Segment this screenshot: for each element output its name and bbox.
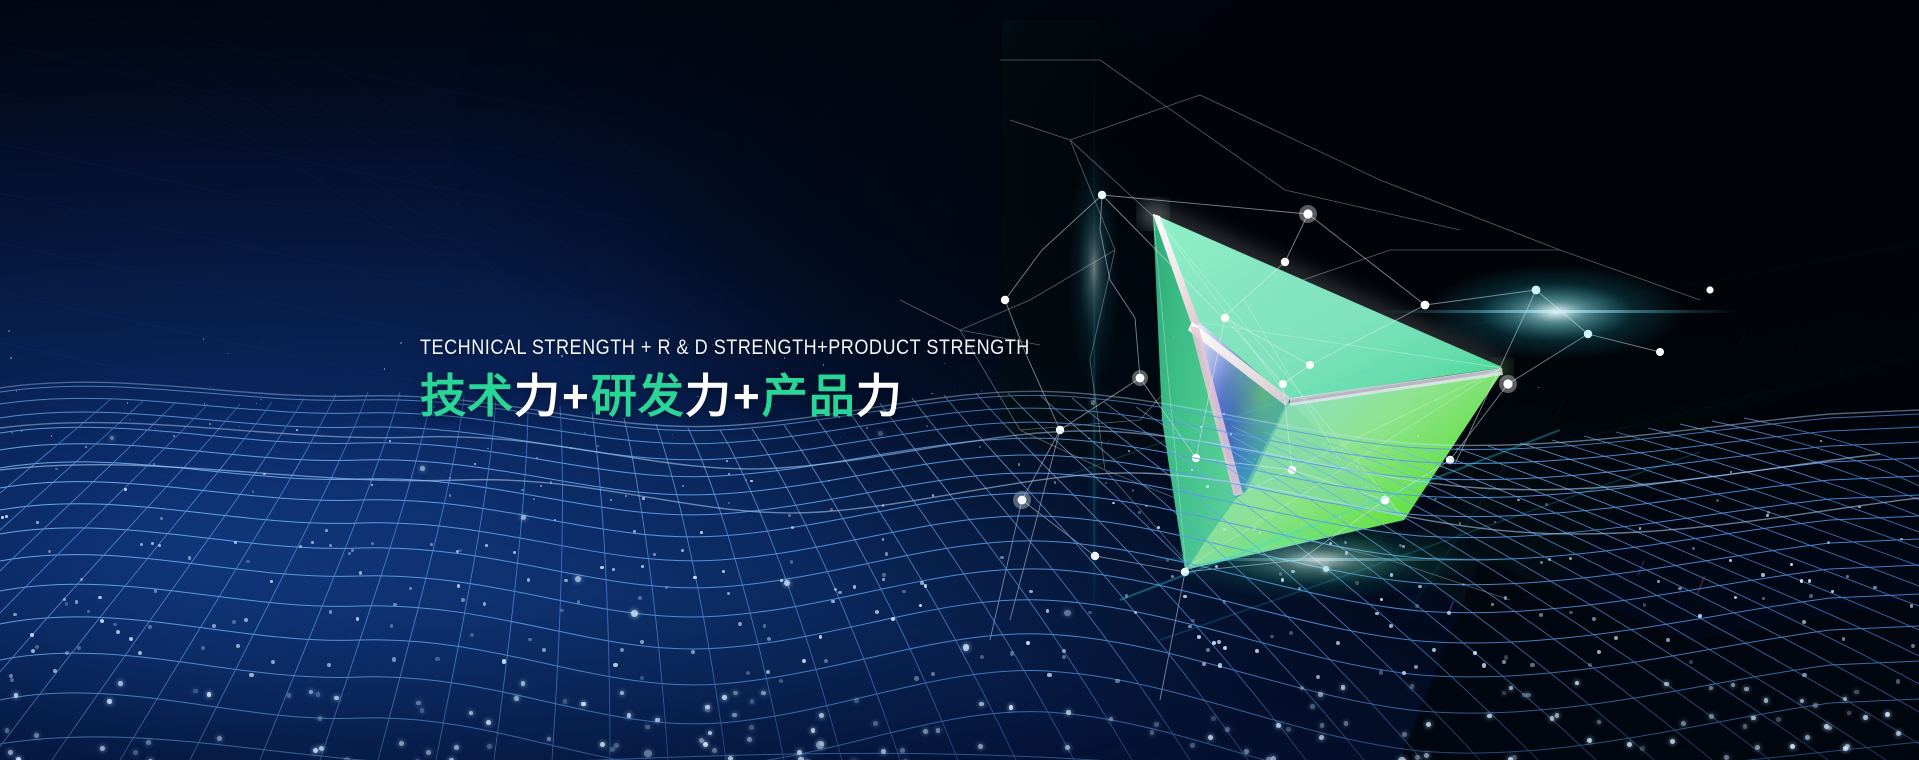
particle	[1842, 637, 1846, 641]
particle	[1319, 735, 1324, 740]
particle	[919, 604, 923, 608]
particle	[1289, 631, 1293, 635]
particle	[1846, 575, 1849, 578]
particle	[882, 578, 885, 581]
particle	[1911, 644, 1915, 648]
particle	[797, 750, 802, 755]
particle	[318, 716, 323, 721]
particle	[767, 637, 771, 641]
particle	[885, 552, 888, 555]
particle	[1627, 742, 1632, 747]
particle	[931, 672, 935, 676]
particle	[682, 485, 684, 487]
particle	[232, 620, 236, 624]
particle	[75, 600, 79, 604]
particle	[1415, 604, 1419, 608]
particle	[1538, 387, 1539, 388]
particle	[1790, 744, 1795, 749]
particle	[819, 713, 824, 718]
particle	[693, 576, 696, 579]
particle	[563, 699, 568, 704]
particle	[542, 648, 546, 652]
particle	[1502, 660, 1506, 664]
particle	[1827, 726, 1832, 731]
particle	[77, 646, 81, 650]
particle	[640, 676, 644, 680]
particle	[173, 435, 175, 437]
particle	[514, 696, 519, 701]
particle	[1666, 638, 1670, 642]
particle	[13, 613, 17, 617]
particle	[334, 696, 339, 701]
particle	[979, 446, 981, 448]
particle	[8, 750, 13, 755]
particle	[217, 736, 222, 741]
particle	[116, 630, 120, 634]
particle	[1212, 641, 1216, 645]
particle	[1206, 648, 1210, 652]
particle	[409, 587, 412, 590]
particle	[100, 746, 105, 751]
particle	[1767, 511, 1770, 514]
particle	[1743, 724, 1748, 729]
particle	[290, 442, 291, 443]
particle	[35, 645, 39, 649]
particle	[1545, 503, 1548, 506]
particle	[1345, 551, 1348, 554]
particle	[329, 544, 332, 547]
particle	[1399, 544, 1402, 547]
particle	[148, 625, 152, 629]
particle	[400, 342, 402, 344]
particle	[1225, 727, 1230, 732]
particle	[745, 479, 747, 481]
particle	[1724, 755, 1729, 760]
particle	[235, 437, 236, 438]
particle	[631, 610, 638, 617]
particle	[390, 624, 394, 628]
particle	[521, 515, 527, 521]
particle	[319, 746, 324, 751]
particle	[48, 550, 51, 553]
particle	[1046, 609, 1050, 613]
particle	[838, 591, 842, 595]
particle	[1487, 714, 1492, 719]
particle	[11, 432, 13, 434]
particle	[316, 692, 321, 697]
particle	[1845, 744, 1850, 749]
particle	[348, 552, 351, 555]
particle	[9, 674, 13, 678]
particle	[1762, 597, 1766, 601]
particle	[819, 635, 823, 639]
particle	[1336, 641, 1340, 645]
particle	[201, 646, 205, 650]
particle	[1344, 721, 1349, 726]
particle	[1858, 506, 1861, 509]
particle	[727, 592, 731, 596]
particle	[313, 748, 318, 753]
particle	[722, 570, 725, 573]
particle	[193, 689, 197, 693]
particle	[597, 445, 599, 447]
particle	[1197, 635, 1201, 639]
particle	[1502, 691, 1507, 696]
particle	[722, 695, 727, 700]
particle	[638, 596, 642, 600]
particle	[1764, 698, 1769, 703]
particle	[560, 609, 564, 613]
particle	[1298, 587, 1301, 590]
particle	[1504, 655, 1508, 659]
particle	[978, 744, 983, 749]
particle	[1223, 646, 1227, 650]
particle	[416, 701, 421, 706]
particle	[296, 429, 298, 431]
particle	[672, 434, 673, 435]
particle	[486, 720, 491, 725]
eyebrow-text: TECHNICAL STRENGTH + R & D STRENGTH+PROD…	[420, 336, 1030, 360]
particle	[420, 466, 425, 471]
particle	[1218, 663, 1222, 667]
particle	[1414, 665, 1418, 669]
particle	[244, 618, 248, 622]
particle	[1379, 670, 1383, 674]
particle	[824, 659, 828, 663]
particle	[528, 638, 532, 642]
particle	[21, 430, 23, 432]
particle	[1318, 692, 1323, 697]
particle	[252, 490, 255, 493]
particle	[129, 637, 133, 641]
particle	[1418, 585, 1421, 588]
particle	[613, 663, 617, 667]
particle	[1065, 745, 1070, 750]
particle	[584, 432, 586, 434]
particle	[207, 692, 212, 697]
particle	[1402, 545, 1405, 548]
particle	[138, 651, 142, 655]
particle	[262, 342, 263, 343]
particle	[65, 651, 69, 655]
particle	[209, 423, 211, 425]
particle	[1088, 438, 1090, 440]
particle	[612, 568, 615, 571]
particle	[1323, 566, 1329, 572]
particle	[1157, 526, 1160, 529]
particle	[655, 718, 660, 723]
particle	[1751, 716, 1756, 721]
particle	[124, 488, 126, 490]
headline-segment-7: 力	[856, 370, 903, 422]
particle	[1029, 590, 1033, 594]
particle	[831, 600, 835, 604]
particle	[371, 542, 374, 545]
particle	[154, 428, 155, 429]
particle	[55, 468, 57, 470]
particle	[1863, 715, 1868, 720]
particle	[204, 403, 206, 405]
particle	[1761, 573, 1764, 576]
particle	[1900, 538, 1903, 541]
particle	[1062, 655, 1066, 659]
particle	[1402, 671, 1406, 675]
particle	[188, 556, 191, 559]
particle	[457, 584, 460, 587]
particle	[1522, 693, 1527, 698]
particle	[1873, 586, 1876, 589]
particle	[454, 745, 459, 750]
particle	[1276, 723, 1281, 728]
particle	[1657, 580, 1660, 583]
particle	[900, 748, 905, 753]
particle	[449, 477, 451, 479]
particle	[34, 733, 39, 738]
particle	[271, 660, 275, 664]
particle	[1254, 458, 1256, 460]
particle	[873, 721, 878, 726]
particle	[902, 590, 906, 594]
particle	[1389, 624, 1393, 628]
particle	[923, 729, 928, 734]
particle	[513, 551, 516, 554]
particle	[1434, 498, 1437, 501]
particle	[882, 504, 885, 507]
particle	[577, 600, 581, 604]
particle	[866, 427, 868, 429]
particle	[31, 649, 35, 653]
particle	[1341, 448, 1343, 450]
particle	[1128, 450, 1130, 452]
particle	[485, 544, 488, 547]
particle	[1824, 724, 1829, 729]
particle	[726, 460, 728, 462]
particle	[750, 480, 752, 482]
particle	[10, 357, 12, 359]
particle	[610, 499, 613, 502]
particle	[1587, 738, 1592, 743]
particle	[1447, 611, 1451, 615]
particle	[351, 549, 354, 552]
particle	[540, 485, 542, 487]
particle	[487, 448, 489, 450]
particle	[1491, 603, 1495, 607]
particle	[640, 640, 644, 644]
particle	[703, 742, 708, 747]
particle	[1540, 561, 1543, 564]
particle	[1827, 541, 1830, 544]
particle	[1820, 440, 1822, 442]
particle	[1588, 663, 1592, 667]
particle	[53, 669, 57, 673]
particle	[1191, 619, 1195, 623]
particle	[1512, 755, 1517, 760]
particle	[113, 623, 117, 627]
particle	[564, 579, 567, 582]
particle	[110, 436, 115, 441]
particle	[1150, 730, 1155, 735]
particle	[1555, 713, 1560, 718]
particle	[8, 330, 10, 332]
particle	[1670, 739, 1675, 744]
particle	[1166, 559, 1169, 562]
particle	[882, 573, 885, 576]
particle	[1190, 743, 1195, 748]
particle	[1802, 620, 1806, 624]
particle	[653, 553, 656, 556]
particle	[36, 521, 39, 524]
particle	[1800, 699, 1805, 704]
particle	[1843, 697, 1848, 702]
particle	[761, 691, 766, 696]
particle	[1640, 746, 1645, 751]
particle	[936, 728, 941, 733]
particle	[1410, 684, 1414, 688]
particle	[1018, 463, 1020, 465]
particle	[1009, 705, 1014, 710]
particle	[1270, 635, 1274, 639]
particle	[1643, 603, 1647, 607]
particle	[728, 756, 733, 760]
headline-segment-1: 力	[514, 370, 561, 422]
particle	[570, 447, 572, 449]
particle	[1592, 617, 1596, 621]
particle	[356, 617, 360, 621]
particle	[1885, 712, 1890, 717]
particle	[1292, 471, 1294, 473]
particle	[1854, 690, 1859, 695]
particle	[1459, 522, 1462, 525]
particle	[1191, 469, 1193, 471]
particle	[1010, 651, 1014, 655]
particle	[1843, 746, 1848, 751]
particle	[728, 473, 730, 475]
particle	[691, 650, 695, 654]
particle	[100, 619, 104, 623]
particle	[384, 368, 385, 369]
particle	[1291, 570, 1294, 573]
particle	[840, 437, 841, 438]
particle	[1424, 753, 1429, 758]
particle	[1316, 675, 1320, 679]
particle	[1188, 625, 1192, 629]
particle	[1, 516, 4, 519]
particle	[1323, 443, 1325, 445]
particle	[830, 508, 833, 511]
particle	[1329, 542, 1332, 545]
particle	[533, 498, 536, 501]
particle	[160, 517, 163, 520]
particle	[246, 560, 249, 563]
particle	[1426, 722, 1431, 727]
particle	[1805, 735, 1810, 740]
particle	[620, 648, 624, 652]
particle	[642, 497, 645, 500]
particle	[1138, 511, 1141, 514]
particle	[393, 603, 397, 607]
particle	[309, 690, 314, 695]
particle	[766, 670, 770, 674]
particle	[1776, 717, 1781, 722]
particle	[620, 691, 625, 696]
particle	[80, 578, 83, 581]
particle	[1208, 735, 1213, 740]
particle	[1064, 610, 1071, 617]
particle	[728, 502, 731, 505]
particle	[547, 737, 552, 742]
particle	[1809, 594, 1813, 598]
particle	[1112, 502, 1115, 505]
particle	[1744, 687, 1748, 691]
particle	[234, 541, 237, 544]
particle	[299, 545, 302, 548]
headline-segment-5: +	[732, 370, 762, 422]
particle	[788, 514, 791, 517]
particle	[779, 679, 783, 683]
particle	[1569, 557, 1572, 560]
particle	[633, 530, 636, 533]
hero-copy: TECHNICAL STRENGTH + R & D STRENGTH+PROD…	[420, 336, 1129, 423]
particle	[746, 671, 750, 675]
particle	[1896, 679, 1900, 683]
particle	[1281, 578, 1284, 581]
particle	[1255, 649, 1259, 653]
particle	[819, 741, 824, 746]
particle	[87, 610, 91, 614]
particle	[1271, 756, 1276, 760]
particle	[791, 526, 794, 529]
particle	[10, 678, 14, 682]
headline-segment-2: +	[561, 370, 591, 422]
particle	[1664, 682, 1668, 686]
particle	[420, 708, 425, 713]
particle	[51, 435, 53, 437]
particle	[1115, 679, 1119, 683]
particle	[1375, 612, 1379, 616]
particle	[461, 598, 465, 602]
particle	[1548, 558, 1551, 561]
particle	[325, 529, 328, 532]
particle	[802, 659, 806, 663]
particle	[1473, 651, 1477, 655]
particle	[1109, 717, 1114, 722]
particle	[790, 560, 793, 563]
particle	[14, 693, 19, 698]
particle	[469, 711, 474, 716]
particle	[16, 757, 21, 760]
particle	[1173, 336, 1175, 338]
particle	[733, 691, 738, 696]
particle	[1709, 714, 1714, 719]
particle	[763, 624, 767, 628]
particle	[1154, 722, 1159, 727]
particle	[914, 676, 918, 680]
particle	[1482, 663, 1486, 667]
particle	[705, 705, 710, 710]
particle	[1390, 573, 1393, 576]
particle	[550, 481, 552, 483]
particle	[1047, 673, 1051, 677]
particle	[98, 596, 102, 600]
particle	[1910, 604, 1914, 608]
particle	[1230, 433, 1232, 435]
particle	[665, 586, 668, 589]
particle	[581, 702, 586, 707]
particle	[1341, 685, 1345, 689]
particle	[1689, 660, 1693, 664]
particle	[1062, 649, 1066, 653]
particle	[502, 659, 506, 663]
